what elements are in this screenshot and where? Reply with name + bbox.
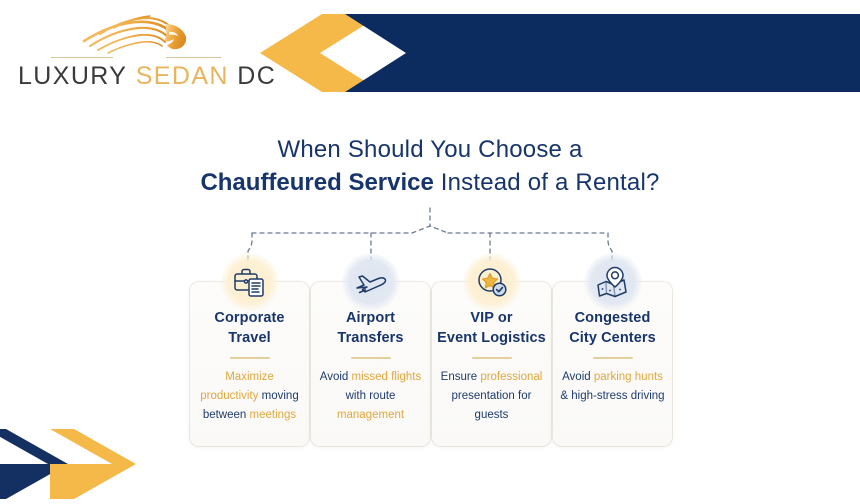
card-title-line-1: Corporate — [214, 310, 284, 326]
connector-elbow-center — [412, 226, 448, 233]
card-title: Congested City Centers — [553, 308, 672, 348]
star-badge-check-icon — [472, 262, 512, 302]
card-divider — [351, 357, 391, 359]
chevron-left-band-icon — [345, 14, 860, 92]
card-body-segment: presentation — [452, 390, 515, 402]
airplane-icon — [351, 262, 391, 302]
card-icon-halo — [584, 253, 642, 311]
benefit-card-airport-transfers[interactable]: Airport Transfers Avoid missed flights w… — [311, 282, 430, 446]
card-body-segment: & high-stress — [560, 390, 627, 402]
brand-word-sedan: SEDAN — [136, 62, 229, 90]
chevron-right-gold-icon — [50, 429, 136, 499]
map-location-pin-icon — [593, 262, 633, 302]
card-body: Avoid missed flights with route manageme… — [311, 368, 430, 425]
benefit-card-vip-event-logistics[interactable]: VIP or Event Logistics Ensure profession… — [432, 282, 551, 446]
card-icon-halo — [221, 253, 279, 311]
card-body-segment: Ensure — [441, 371, 477, 383]
card-icon-halo — [463, 253, 521, 311]
card-body-segment: driving — [631, 390, 665, 402]
brand-word-dc: DC — [237, 62, 276, 90]
card-body-segment: Avoid — [320, 371, 349, 383]
footer-chevron-graphic — [0, 427, 170, 499]
card-divider — [230, 357, 270, 359]
card-body-segment: Maximize — [225, 371, 274, 383]
header-banner: LUXURY SEDAN DC — [0, 0, 860, 110]
card-title: VIP or Event Logistics — [432, 308, 551, 348]
card-body-segment: missed — [352, 371, 388, 383]
card-body-segment: parking hunts — [594, 371, 663, 383]
connector-tree — [0, 205, 860, 275]
lion-head-icon — [70, 12, 190, 58]
card-body-segment: professional — [480, 371, 542, 383]
card-title-line-2: Event Logistics — [437, 330, 546, 346]
card-title-line-1: Airport — [346, 310, 395, 326]
card-title-line-2: Travel — [228, 330, 271, 346]
card-body-segment: management — [337, 409, 404, 421]
brand-wordmark: LUXURY SEDAN DC — [18, 62, 233, 91]
card-title-line-1: VIP or — [470, 310, 512, 326]
card-body-segment: productivity — [200, 390, 258, 402]
connector-dot-group — [244, 260, 616, 268]
benefit-card-congested-city-centers[interactable]: Congested City Centers Avoid parking hun… — [553, 282, 672, 446]
brand-rule-right — [166, 57, 221, 58]
card-body-segment: Avoid — [562, 371, 591, 383]
title-emphasis: Chauffeured Service — [200, 169, 433, 196]
card-title-line-2: Transfers — [337, 330, 403, 346]
card-divider — [593, 357, 633, 359]
benefit-card-corporate-travel[interactable]: Corporate Travel Maximize productivity m… — [190, 282, 309, 446]
card-body-segment: with — [346, 390, 366, 402]
brand-logo[interactable]: LUXURY SEDAN DC — [18, 12, 233, 94]
card-body-segment: meetings — [250, 409, 297, 421]
card-title: Corporate Travel — [190, 308, 309, 348]
brand-word-luxury: LUXURY — [18, 62, 127, 90]
page-title: When Should You Choose a Chauffeured Ser… — [0, 133, 860, 199]
brand-rule-left — [51, 57, 113, 58]
card-body: Maximize productivity moving between mee… — [190, 368, 309, 425]
card-body-segment: route — [369, 390, 395, 402]
card-icon-halo — [342, 253, 400, 311]
card-title: Airport Transfers — [311, 308, 430, 348]
brand-divider-rules — [26, 57, 226, 59]
title-line-1: When Should You Choose a — [0, 133, 860, 166]
card-divider — [472, 357, 512, 359]
card-title-line-1: Congested — [575, 310, 651, 326]
card-body: Ensure professional presentation for gue… — [432, 368, 551, 425]
card-title-line-2: City Centers — [569, 330, 656, 346]
title-line-2-rest: Instead of a Rental? — [434, 169, 660, 196]
card-body-segment: flights — [391, 371, 421, 383]
benefit-card-row: Corporate Travel Maximize productivity m… — [190, 282, 672, 446]
briefcase-document-icon — [230, 262, 270, 302]
card-body: Avoid parking hunts & high-stress drivin… — [553, 368, 672, 406]
title-line-2: Chauffeured Service Instead of a Rental? — [0, 166, 860, 199]
